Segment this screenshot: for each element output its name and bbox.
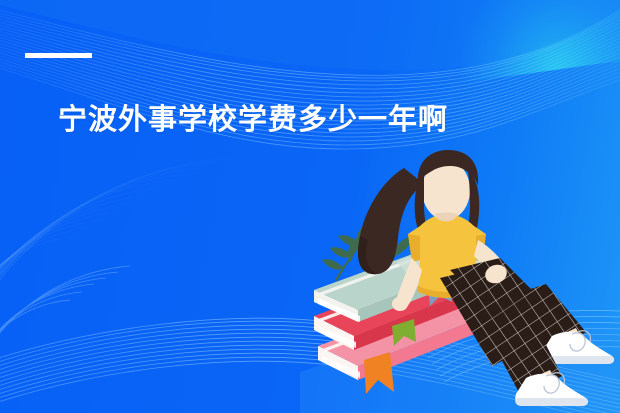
title-accent-rule — [25, 53, 92, 58]
page-title: 宁波外事学校学费多少一年啊 — [58, 100, 448, 140]
woman-sitting-on-books-illustration — [300, 150, 620, 413]
banner-canvas: 宁波外事学校学费多少一年啊 — [0, 0, 620, 413]
